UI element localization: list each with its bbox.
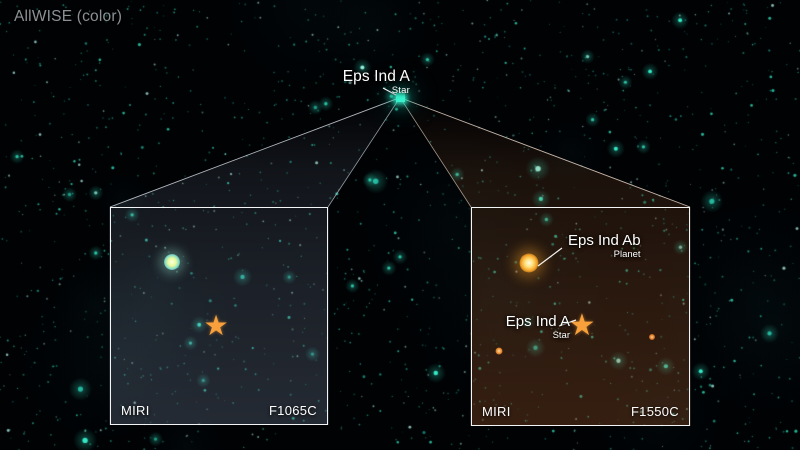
- callout-star: Eps Ind A Star: [478, 313, 570, 341]
- apex-kind: Star: [310, 85, 410, 97]
- instrument-label-left: MIRI: [121, 403, 150, 418]
- filter-label-left: F1065C: [269, 403, 317, 418]
- callout-planet-name: Eps Ind Ab: [568, 232, 641, 249]
- apex-name: Eps Ind A: [310, 68, 410, 85]
- callout-star-kind: Star: [478, 330, 570, 341]
- filter-label-right: F1550C: [631, 404, 679, 419]
- host-star-glyph-blue: ★: [203, 312, 228, 340]
- image-canvas: AllWISE (color): [0, 0, 800, 450]
- callout-planet-kind: Planet: [568, 249, 641, 260]
- callout-planet: Eps Ind Ab Planet: [568, 232, 641, 260]
- host-star-glyph-red: ★: [569, 311, 596, 341]
- callout-star-name: Eps Ind A: [478, 313, 570, 330]
- instrument-label-right: MIRI: [482, 404, 511, 419]
- inset-panel-f1065c[interactable]: ★ MIRI F1065C: [110, 207, 328, 425]
- apex-callout: Eps Ind A Star: [310, 68, 410, 97]
- inset-panel-f1550c[interactable]: ★ Eps Ind Ab Planet Eps Ind A Star MIRI …: [471, 207, 690, 426]
